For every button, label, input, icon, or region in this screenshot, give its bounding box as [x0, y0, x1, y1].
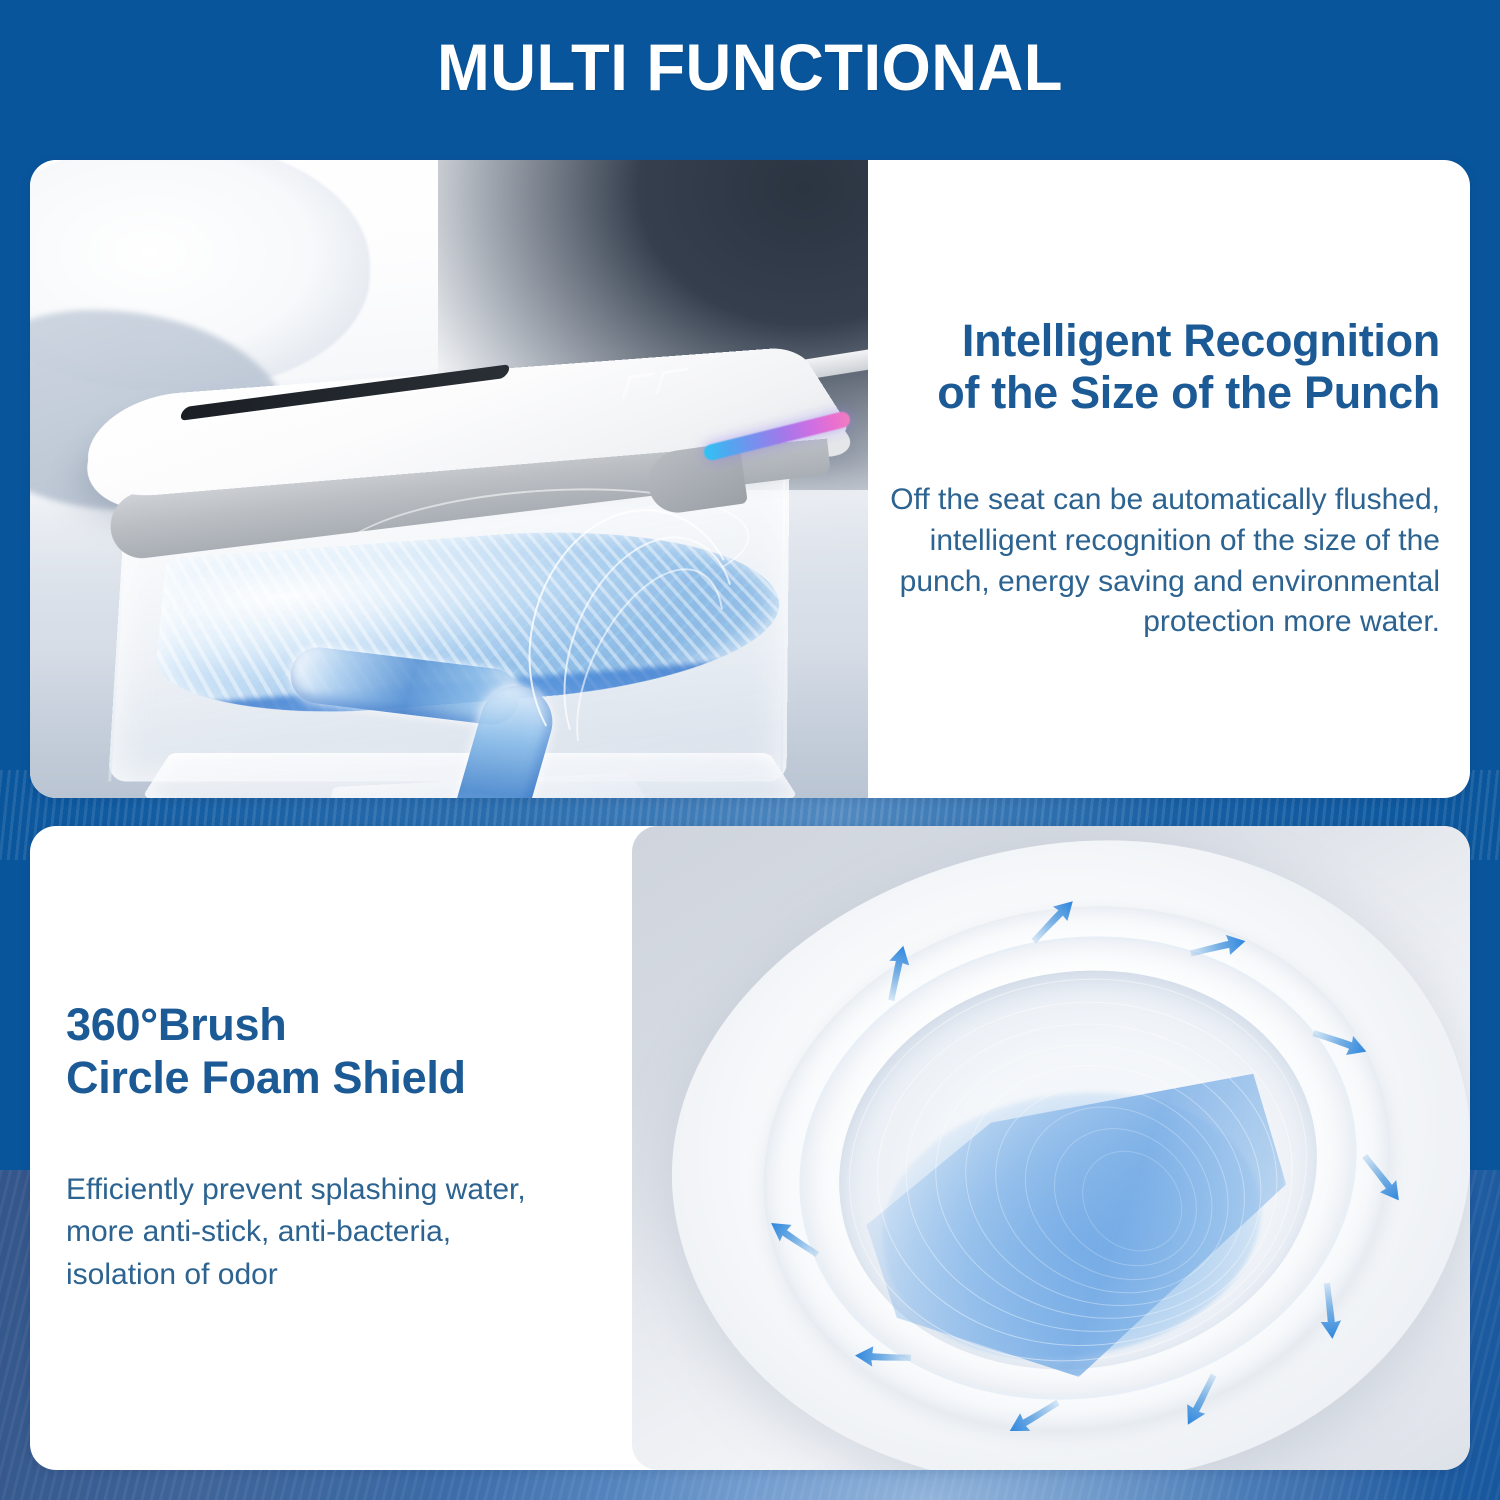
feature-body-line1: Efficiently prevent splashing water,	[66, 1169, 614, 1212]
flow-direction-arrow-icon	[762, 1208, 825, 1271]
feature-body-line3: isolation of odor	[66, 1254, 614, 1297]
feature-body-text: Efficiently prevent splashing water, mor…	[66, 1169, 614, 1297]
flow-direction-arrow-icon	[1026, 894, 1080, 948]
page-title: MULTI FUNCTIONAL	[30, 34, 1470, 100]
feature-card-360-brush-foam-shield: 360°Brush Circle Foam Shield Efficiently…	[30, 826, 1470, 1470]
feature-heading-line2: Circle Foam Shield	[66, 1052, 614, 1105]
toilet-bowl-foam-shield-image	[632, 826, 1470, 1470]
feature-body-text: Off the seat can be automatically flushe…	[890, 480, 1440, 643]
feature-heading: Intelligent Recognition of the Size of t…	[890, 315, 1440, 420]
feature-heading-line1: Intelligent Recognition	[890, 315, 1440, 368]
feature-card-intelligent-recognition: Intelligent Recognition of the Size of t…	[30, 160, 1470, 798]
feature-heading-line1: 360°Brush	[66, 999, 614, 1052]
smart-toilet-cutaway-image	[30, 160, 868, 798]
feature-text-360-brush: 360°Brush Circle Foam Shield Efficiently…	[30, 826, 632, 1470]
feature-heading: 360°Brush Circle Foam Shield	[66, 999, 614, 1104]
flow-direction-arrow-icon	[1351, 1147, 1412, 1208]
feature-heading-line2: of the Size of the Punch	[890, 367, 1440, 420]
feature-text-intelligent-recognition: Intelligent Recognition of the Size of t…	[868, 160, 1470, 798]
feature-body-line2: more anti-stick, anti-bacteria,	[66, 1211, 614, 1254]
